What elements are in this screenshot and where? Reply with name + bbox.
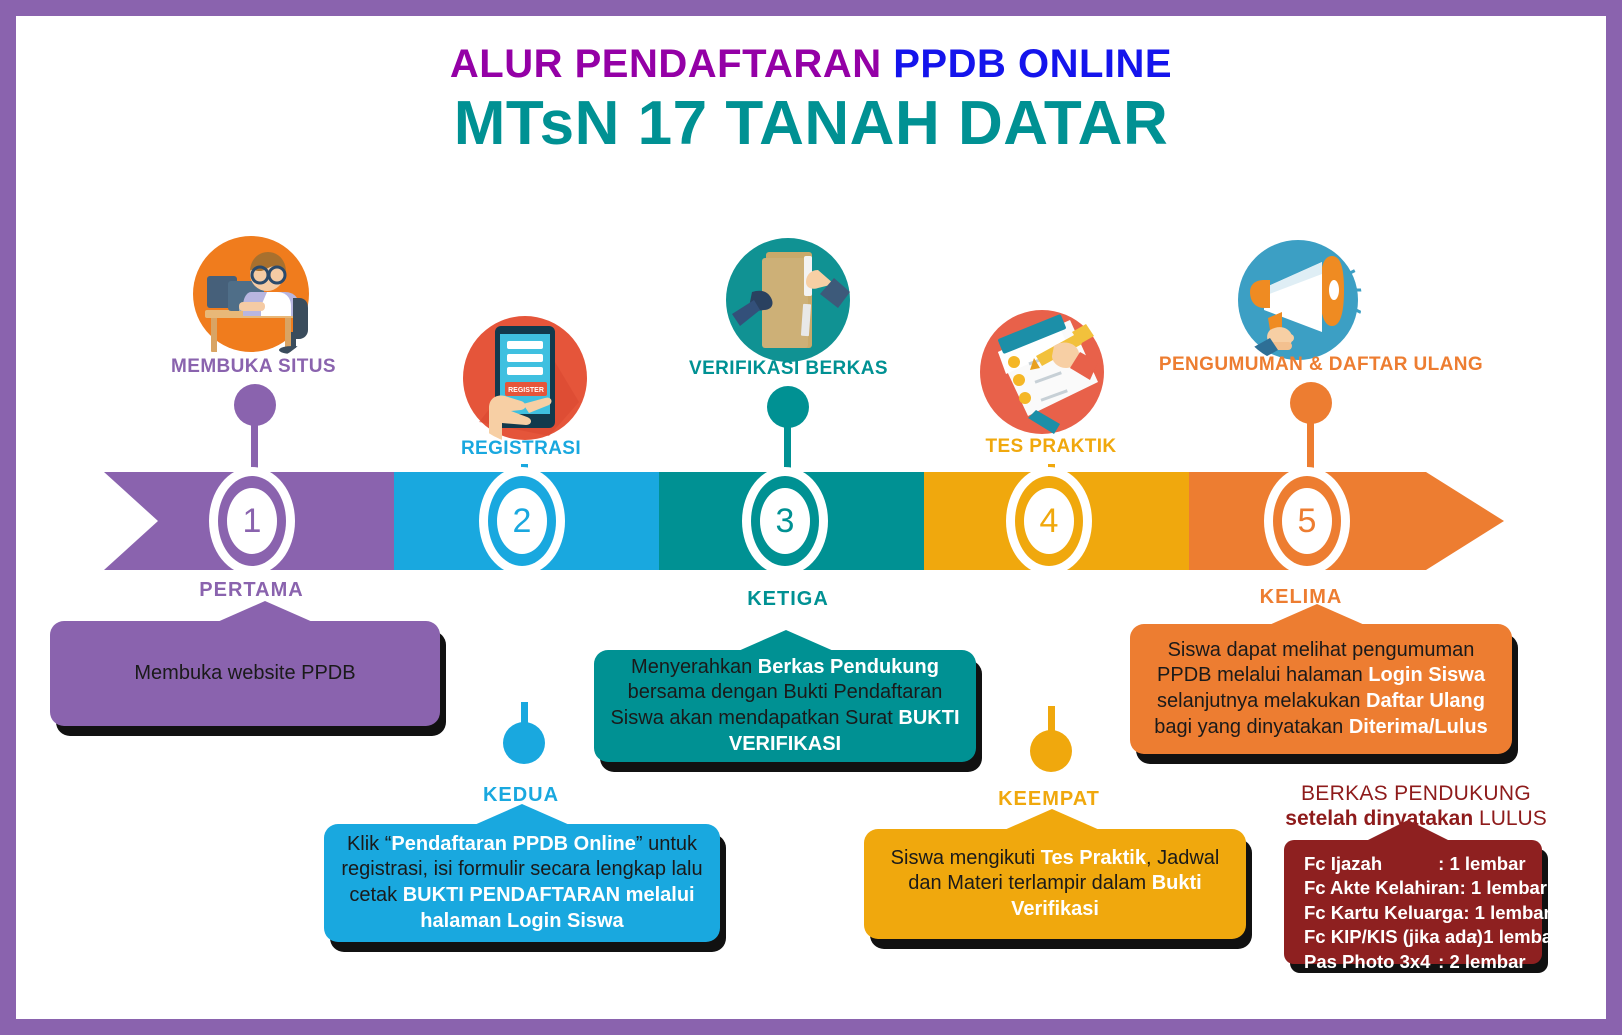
step-number-3: 3 bbox=[760, 488, 810, 554]
title-part-alur: ALUR PENDAFTARAN bbox=[450, 42, 893, 86]
order-label-4: KEEMPAT bbox=[954, 788, 1144, 811]
document-name: Fc KIP/KIS (jika ada) bbox=[1304, 925, 1472, 949]
callout-beak-4 bbox=[1002, 809, 1102, 831]
document-name: Fc Ijazah bbox=[1304, 852, 1438, 876]
person-at-computer-icon bbox=[181, 224, 321, 364]
documents-rows: Fc Ijazah: 1 lembarFc Akte Kelahiran: 1 … bbox=[1304, 852, 1526, 974]
tablet-register-form-icon: REGISTER bbox=[459, 312, 591, 444]
document-row: Fc KIP/KIS (jika ada): 1 lembar bbox=[1304, 925, 1526, 949]
document-quantity: : 1 lembar bbox=[1463, 901, 1550, 925]
order-label-1: PERTAMA bbox=[144, 579, 359, 602]
documents-heading-rest: LULUS bbox=[1479, 807, 1547, 830]
title-part-ppdb: PPDB ONLINE bbox=[893, 42, 1172, 86]
step-number-4: 4 bbox=[1024, 488, 1074, 554]
svg-text:REGISTER: REGISTER bbox=[508, 387, 544, 394]
document-row: Pas Photo 3x4: 2 lembar bbox=[1304, 950, 1526, 974]
callout-text-1: Membuka website PPDB bbox=[134, 661, 355, 687]
callout-2: Klik “Pendaftaran PPDB Online” untuk reg… bbox=[324, 824, 720, 942]
documents-heading-line1: BERKAS PENDUKUNG bbox=[1266, 781, 1566, 806]
icon-label-3: VERIFIKASI BERKAS bbox=[676, 358, 901, 380]
document-row: Fc Kartu Keluarga: 1 lembar bbox=[1304, 901, 1526, 925]
documents-panel: Fc Ijazah: 1 lembarFc Akte Kelahiran: 1 … bbox=[1284, 840, 1542, 964]
callout-text-3: Menyerahkan Berkas Pendukung bersama den… bbox=[610, 655, 960, 757]
callout-4: Siswa mengikuti Tes Praktik, Jadwal dan … bbox=[864, 829, 1246, 939]
clipboard-pencil-icon bbox=[976, 306, 1108, 438]
connector-stem-2b bbox=[521, 702, 528, 726]
folder-handover-icon bbox=[722, 234, 854, 366]
document-name: Fc Akte Kelahiran bbox=[1304, 876, 1460, 900]
icon-label-5: PENGUMUMAN & DAFTAR ULANG bbox=[1141, 354, 1501, 376]
callout-beak-5 bbox=[1267, 604, 1367, 626]
callout-text-4: Siswa mengikuti Tes Praktik, Jadwal dan … bbox=[880, 846, 1230, 923]
step-marker-2[interactable]: 2 bbox=[479, 467, 565, 575]
page-title: ALUR PENDAFTARAN PPDB ONLINE MTsN 17 TAN… bbox=[16, 44, 1606, 159]
document-quantity: : 1 lembar bbox=[1438, 852, 1526, 876]
process-banner: 1 2 3 4 5 bbox=[104, 472, 1504, 570]
callout-5: Siswa dapat melihat pengumuman PPDB mela… bbox=[1130, 624, 1512, 754]
megaphone-icon bbox=[1234, 236, 1362, 364]
documents-panel-beak bbox=[1364, 820, 1452, 842]
icon-label-2: REGISTRASI bbox=[426, 438, 616, 460]
document-row: Fc Akte Kelahiran: 1 lembar bbox=[1304, 876, 1526, 900]
callout-text-2: Klik “Pendaftaran PPDB Online” untuk reg… bbox=[340, 832, 704, 934]
step-number-2: 2 bbox=[497, 488, 547, 554]
step-number-5: 5 bbox=[1282, 488, 1332, 554]
poster-frame: ALUR PENDAFTARAN PPDB ONLINE MTsN 17 TAN… bbox=[0, 0, 1622, 1035]
step-marker-5[interactable]: 5 bbox=[1264, 467, 1350, 575]
banner-arrow-head bbox=[1426, 472, 1504, 570]
document-quantity: : 1 lembar bbox=[1460, 876, 1547, 900]
callout-text-5: Siswa dapat melihat pengumuman PPDB mela… bbox=[1146, 638, 1496, 740]
icon-label-4: TES PRAKTIK bbox=[956, 436, 1146, 458]
document-row: Fc Ijazah: 1 lembar bbox=[1304, 852, 1526, 876]
step-marker-1[interactable]: 1 bbox=[209, 467, 295, 575]
callout-3: Menyerahkan Berkas Pendukung bersama den… bbox=[594, 650, 976, 762]
document-quantity: : 2 lembar bbox=[1438, 950, 1526, 974]
callout-beak-2 bbox=[472, 804, 572, 826]
step-marker-3[interactable]: 3 bbox=[742, 467, 828, 575]
connector-dot-2 bbox=[503, 722, 545, 764]
title-line-2: MTsN 17 TANAH DATAR bbox=[16, 88, 1606, 159]
step-number-1: 1 bbox=[227, 488, 277, 554]
order-label-3: KETIGA bbox=[688, 588, 888, 611]
connector-dot-4 bbox=[1030, 730, 1072, 772]
callout-beak-3 bbox=[736, 630, 836, 652]
icon-label-1: MEMBUKA SITUS bbox=[146, 356, 361, 378]
document-name: Fc Kartu Keluarga bbox=[1304, 901, 1463, 925]
document-name: Pas Photo 3x4 bbox=[1304, 950, 1438, 974]
callout-1: Membuka website PPDB bbox=[50, 621, 440, 726]
callout-beak-1 bbox=[215, 601, 315, 623]
step-marker-4[interactable]: 4 bbox=[1006, 467, 1092, 575]
document-quantity: : 1 lembar bbox=[1472, 925, 1559, 949]
poster-canvas: ALUR PENDAFTARAN PPDB ONLINE MTsN 17 TAN… bbox=[16, 16, 1606, 1019]
title-line-1: ALUR PENDAFTARAN PPDB ONLINE bbox=[16, 44, 1606, 84]
